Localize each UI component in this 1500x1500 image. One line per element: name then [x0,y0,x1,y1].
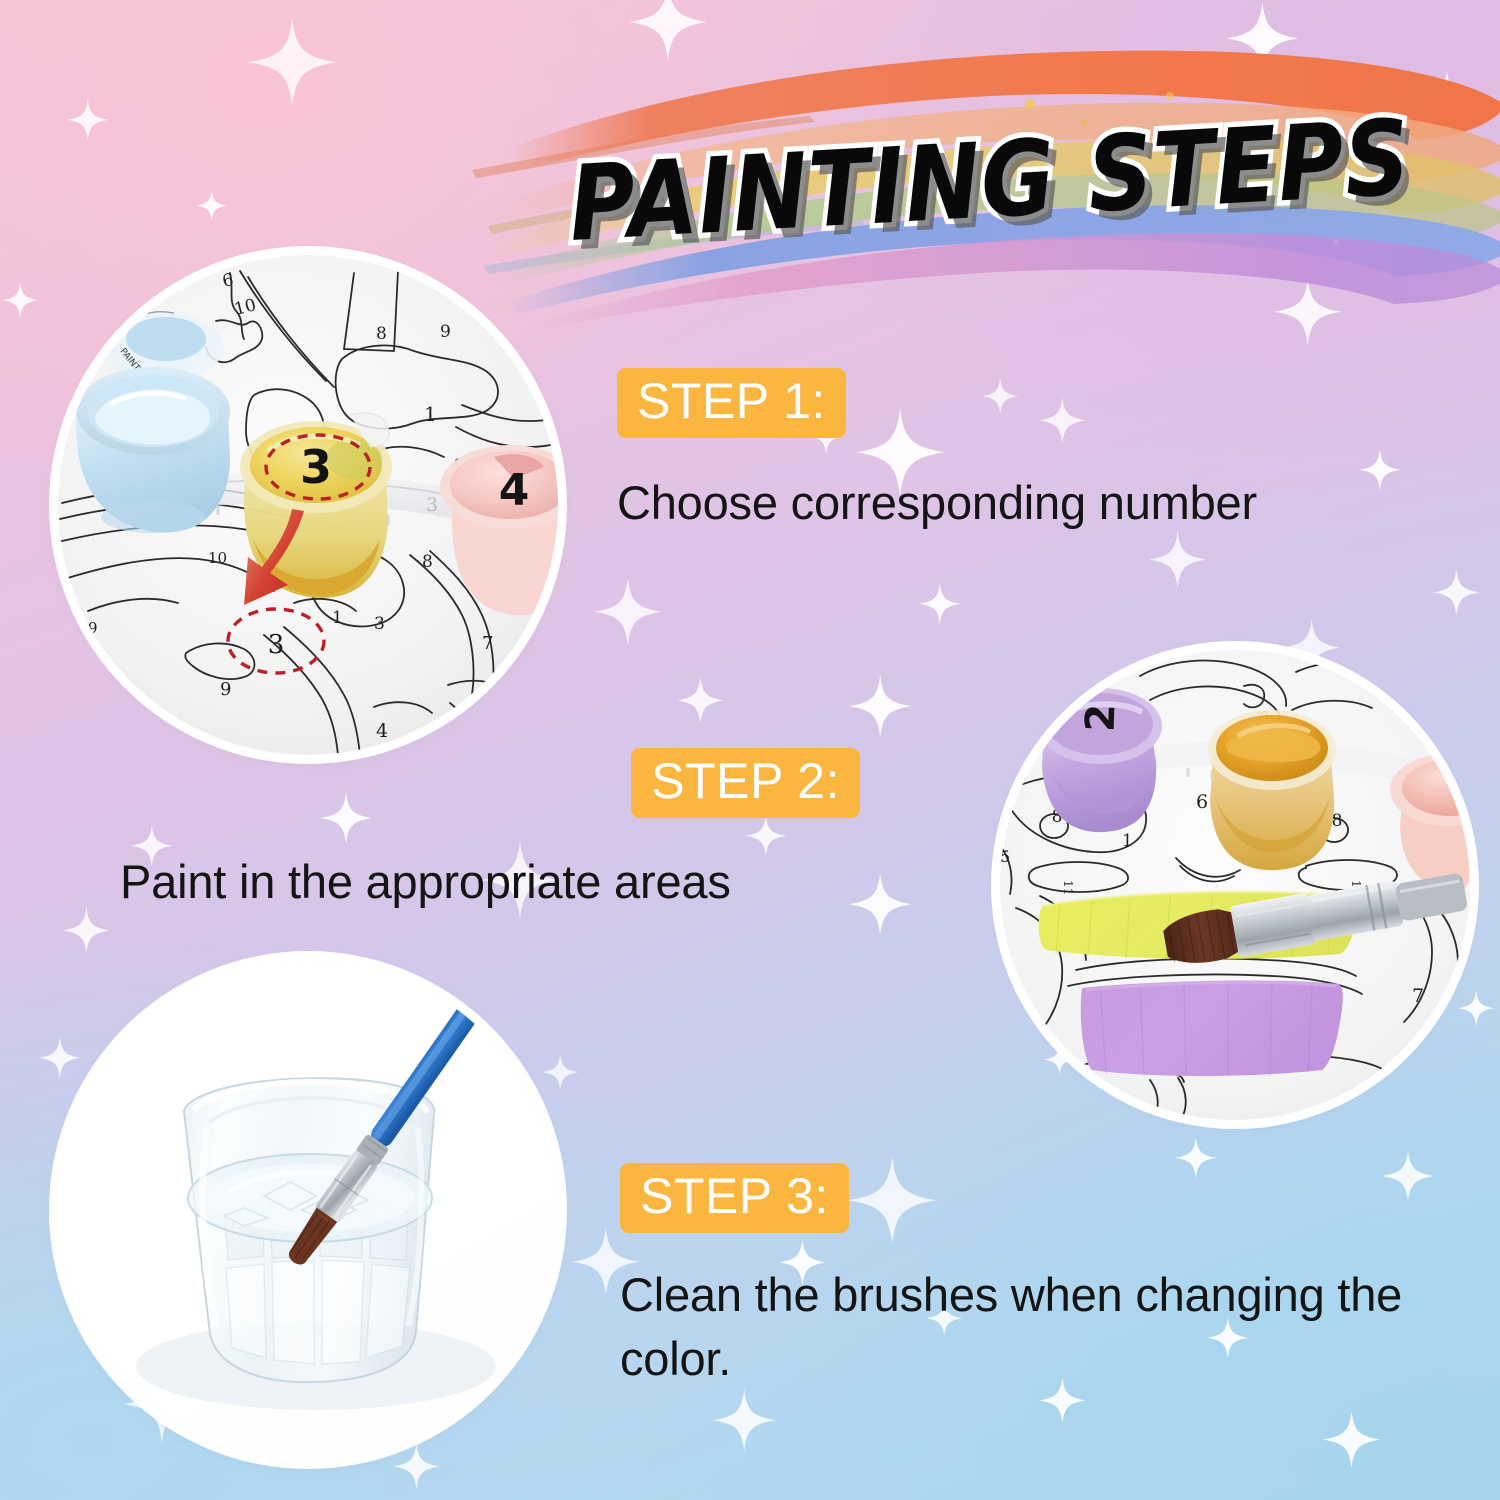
svg-text:6: 6 [1196,791,1208,813]
step-1-text: Choose corresponding number [617,471,1457,535]
svg-text:10: 10 [208,549,227,567]
svg-text:4: 4 [499,465,530,516]
svg-text:9: 9 [440,322,451,342]
step-3-badge: STEP 3: [620,1163,849,1233]
svg-text:2: 2 [1078,703,1125,732]
svg-text:3: 3 [374,614,385,634]
photo-step-3 [58,960,558,1460]
svg-text:5: 5 [1000,847,1010,866]
step-1-block: STEP 1: Choose corresponding number [617,368,1457,535]
svg-text:4: 4 [376,720,388,742]
svg-text:8: 8 [376,324,387,344]
sparkle-star [63,907,110,954]
svg-text:3: 3 [268,630,285,660]
sparkle-star [713,1389,775,1451]
photo-step-2: 8 1 6 8 7 11 10 9 5 [1000,650,1470,1120]
sparkle-star [393,1443,440,1490]
sparkle-star [594,578,662,646]
step-3-block: STEP 3: Clean the brushes when changing … [620,1163,1480,1391]
sparkle-star [677,677,724,724]
sparkle-star [542,1054,578,1090]
sparkle-star [1433,569,1480,616]
svg-text:11: 11 [1061,880,1075,895]
page-title-wrap: PAINTING STEPS [470,30,1500,330]
sparkle-star [196,190,227,221]
svg-text:1: 1 [424,402,437,426]
svg-text:1: 1 [1122,831,1133,851]
svg-text:9: 9 [220,679,231,700]
sparkle-star [67,99,109,141]
page-title: PAINTING STEPS [566,96,1414,264]
step-2-block: STEP 2: Paint in the appropriate areas [120,748,860,914]
sparkle-star [919,583,961,625]
svg-text:8: 8 [422,552,433,572]
step-3-text: Clean the brushes when changing the colo… [620,1263,1480,1391]
infographic-root: PAINTING STEPS [0,0,1500,1500]
photo-step-1: 6 10 8 9 10 1 9 3 8 10 9 1 3 9 4 7 [58,255,558,755]
svg-text:9: 9 [88,619,98,637]
svg-text:3: 3 [300,440,332,494]
step-1-badge: STEP 1: [617,368,846,438]
svg-text:1: 1 [332,608,343,628]
sparkle-star [1149,531,1206,588]
svg-text:7: 7 [1412,985,1424,1007]
svg-text:7: 7 [482,633,493,654]
sparkle-star [1323,1411,1380,1468]
sparkle-star [39,1037,81,1079]
sparkle-star [849,675,911,737]
step-2-text: Paint in the appropriate areas [120,850,860,914]
sparkle-star [1458,990,1494,1026]
sparkle-star [248,18,336,106]
step-2-badge: STEP 2: [631,748,860,818]
sparkle-star [2,282,38,318]
